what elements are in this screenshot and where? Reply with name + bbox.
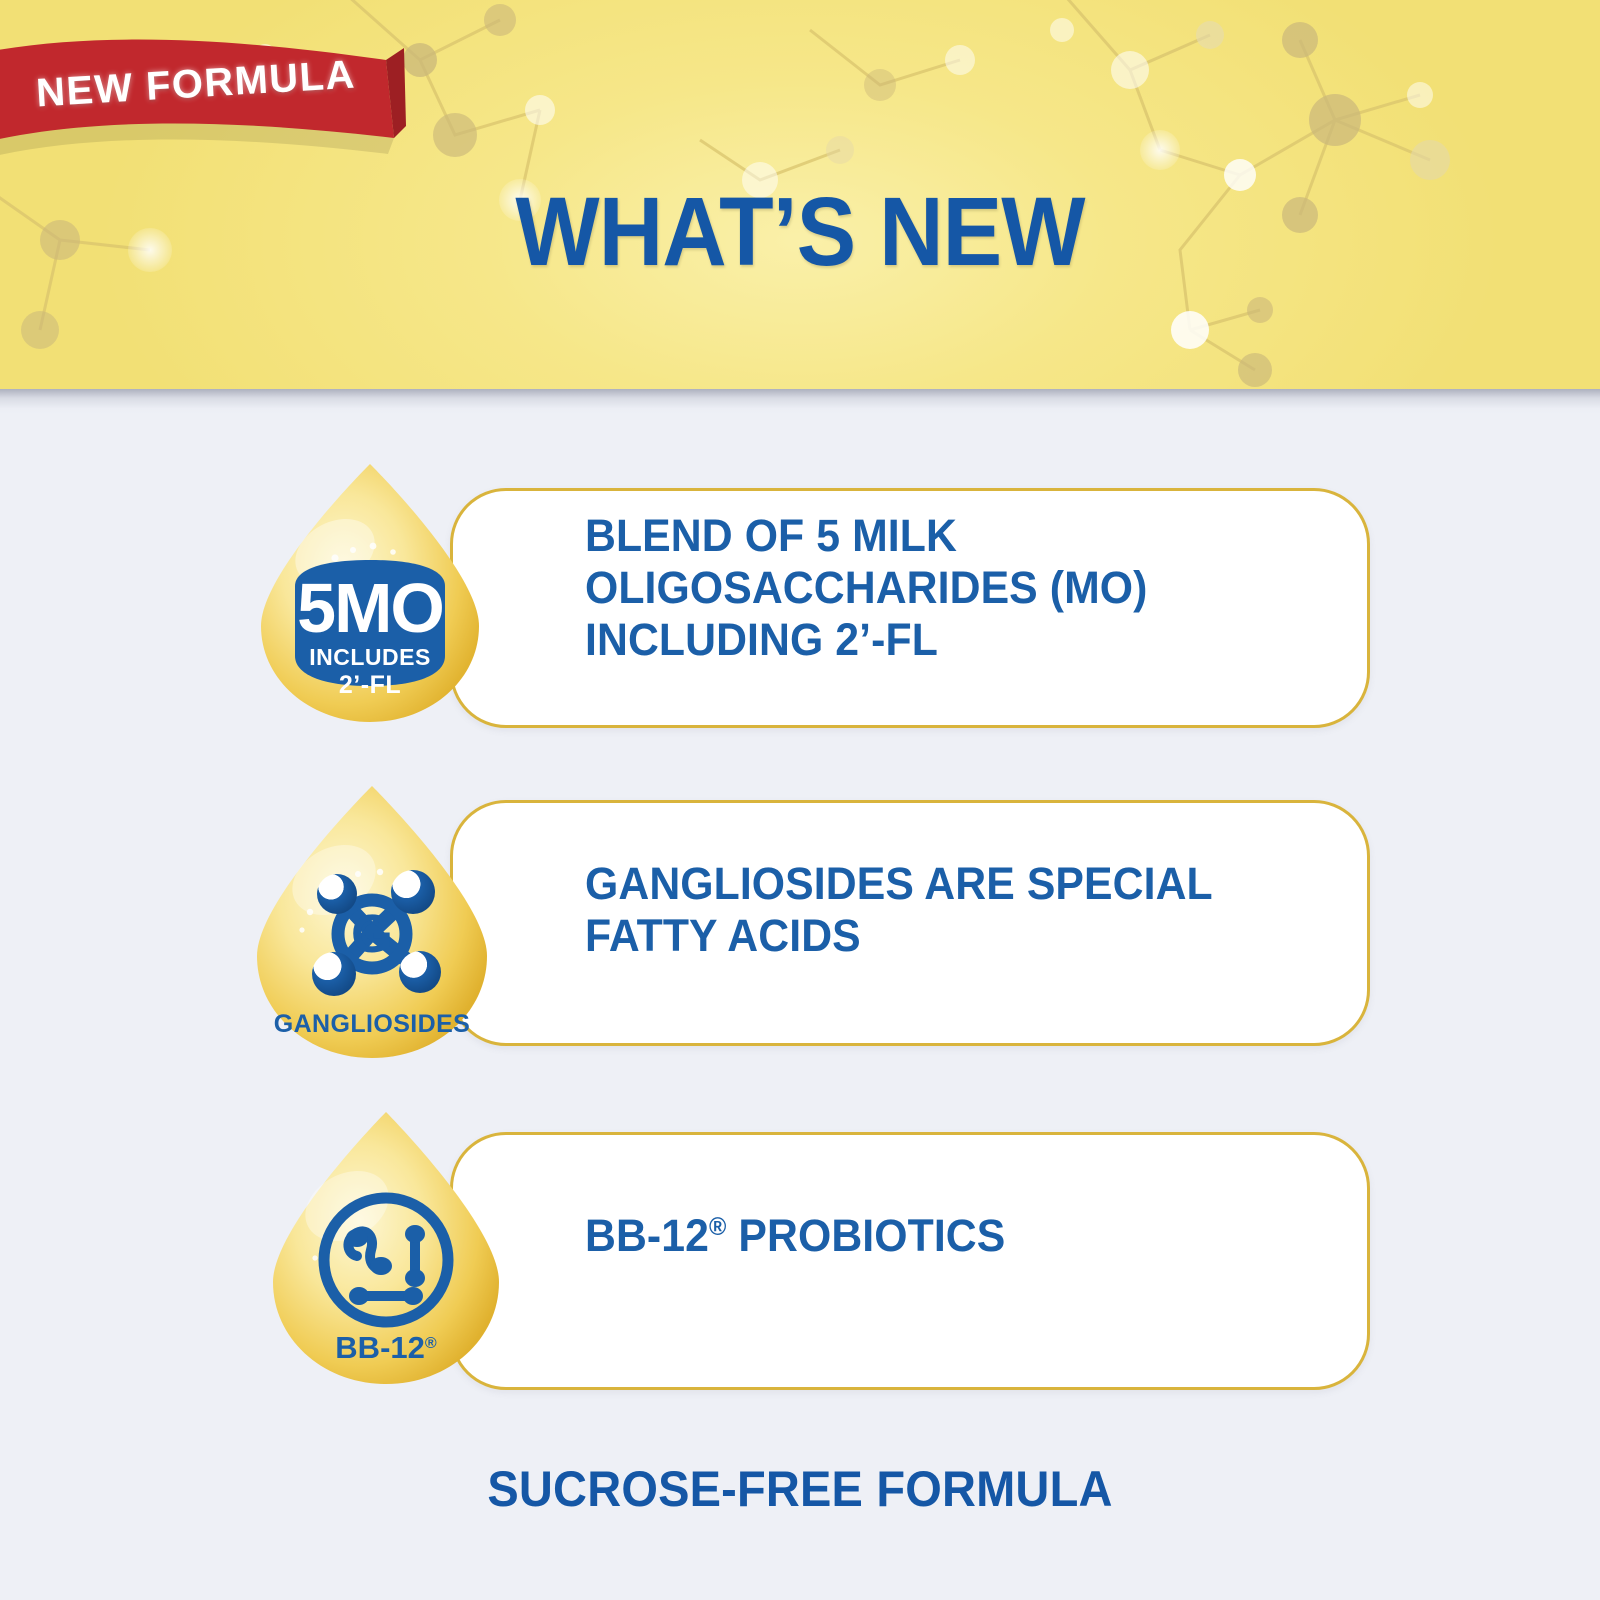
feature-text-bb12-main: BB-12 bbox=[585, 1210, 709, 1261]
feature-text-bb12: BB-12® PROBIOTICS bbox=[585, 1210, 1288, 1262]
droplet-gangliosides-icon: G GANGLIOSIDES bbox=[238, 782, 506, 1064]
droplet-5mo-sub2: 2’-FL bbox=[339, 671, 401, 699]
feature-text-bb12-tail: PROBIOTICS bbox=[726, 1210, 1005, 1261]
droplet-5mo-sub1: INCLUDES bbox=[309, 644, 431, 670]
sucrose-free-footnote: SUCROSE-FREE FORMULA bbox=[48, 1460, 1552, 1518]
droplet-5mo-primary-text: 5MO bbox=[297, 569, 443, 647]
droplet-gangliosides-caption: GANGLIOSIDES bbox=[274, 1010, 471, 1038]
feature-text-gangliosides: GANGLIOSIDES ARE SPECIAL FATTY ACIDS bbox=[585, 858, 1288, 962]
droplet-gangliosides-primary-text: G bbox=[351, 904, 393, 964]
feature-rows: 5MO INCLUDES 2’-FL BLEND OF 5 MILK OLIGO… bbox=[0, 0, 1600, 1600]
registered-mark-icon: ® bbox=[709, 1214, 726, 1241]
droplet-bb12-caption: BB-12® bbox=[335, 1330, 437, 1365]
droplet-5mo-icon: 5MO INCLUDES 2’-FL bbox=[243, 460, 497, 728]
feature-text-5mo: BLEND OF 5 MILK OLIGOSACCHARIDES (MO) IN… bbox=[585, 510, 1288, 667]
droplet-bb12-icon: BB-12® bbox=[255, 1108, 517, 1390]
